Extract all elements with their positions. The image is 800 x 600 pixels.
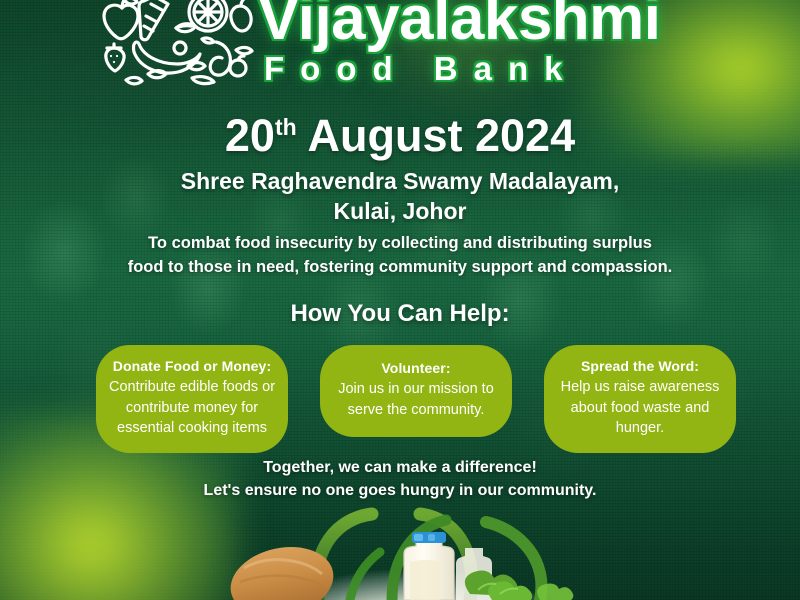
- poster-canvas: Vijayalakshmi Food Bank 20th August 2024…: [0, 0, 800, 600]
- help-card-spread-word: Spread the Word: Help us raise awareness…: [544, 345, 736, 453]
- event-month-year: August 2024: [308, 110, 576, 161]
- help-card-volunteer: Volunteer: Join us in our mission to ser…: [320, 345, 512, 437]
- help-card-body: Join us in our mission to serve the comm…: [330, 379, 502, 420]
- venue-line-1: Shree Raghavendra Swamy Madalayam,: [0, 166, 800, 196]
- fruit-vegetable-basket-icon: [88, 0, 260, 86]
- help-card-donate: Donate Food or Money: Contribute edible …: [96, 345, 288, 453]
- help-card-title: Donate Food or Money:: [106, 358, 278, 374]
- help-card-body: Help us raise awareness about food waste…: [554, 377, 726, 439]
- venue-line-2: Kulai, Johor: [0, 196, 800, 226]
- event-date: 20th August 2024: [0, 110, 800, 162]
- help-card-body: Contribute edible foods or contribute mo…: [106, 377, 278, 439]
- event-venue: Shree Raghavendra Swamy Madalayam, Kulai…: [0, 166, 800, 227]
- help-card-title: Spread the Word:: [554, 358, 726, 374]
- poster-header: Vijayalakshmi Food Bank: [0, 0, 800, 88]
- brand-subtitle: Food Bank: [264, 52, 800, 87]
- brand-block: Vijayalakshmi Food Bank: [258, 0, 800, 87]
- mission-line-1: To combat food insecurity by collecting …: [60, 232, 740, 256]
- closing-message: Together, we can make a difference! Let'…: [40, 456, 760, 502]
- brand-name: Vijayalakshmi: [258, 0, 800, 50]
- help-heading: How You Can Help:: [0, 300, 800, 328]
- mission-line-2: food to those in need, fostering communi…: [60, 256, 740, 280]
- closing-line-2: Let's ensure no one goes hungry in our c…: [40, 479, 760, 502]
- event-day-suffix: th: [275, 114, 297, 140]
- help-card-title: Volunteer:: [330, 360, 502, 376]
- closing-line-1: Together, we can make a difference!: [40, 456, 760, 479]
- help-cards: Donate Food or Money: Contribute edible …: [96, 345, 736, 453]
- mission-statement: To combat food insecurity by collecting …: [60, 232, 740, 280]
- event-day: 20: [225, 110, 275, 161]
- poster-content: Vijayalakshmi Food Bank 20th August 2024…: [0, 0, 800, 600]
